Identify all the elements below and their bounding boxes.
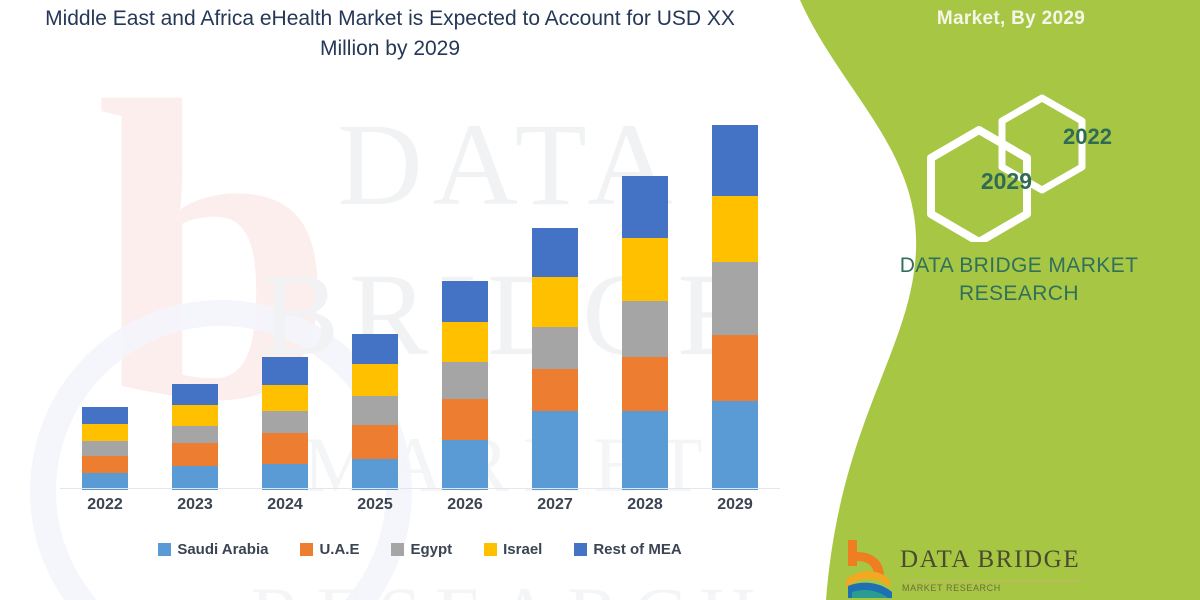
bar-2022 bbox=[82, 407, 128, 490]
bar-segment-saudi-arabia bbox=[352, 459, 398, 491]
page-title: Middle East and Africa eHealth Market is… bbox=[40, 4, 740, 64]
bar-segment-u-a-e bbox=[622, 357, 668, 412]
bar-2023 bbox=[172, 384, 218, 490]
bar-segment-israel bbox=[532, 277, 578, 327]
bar-segment-u-a-e bbox=[352, 425, 398, 459]
legend-item-egypt[interactable]: Egypt bbox=[391, 541, 452, 558]
bar-segment-u-a-e bbox=[262, 433, 308, 463]
bar-segment-rest-of-mea bbox=[712, 125, 758, 196]
bar-segment-egypt bbox=[712, 262, 758, 334]
x-axis-label-2024: 2024 bbox=[240, 496, 330, 514]
bar-segment-u-a-e bbox=[532, 369, 578, 411]
legend-label: Rest of MEA bbox=[593, 541, 681, 558]
x-axis-labels: 20222023202420252026202720282029 bbox=[60, 496, 780, 526]
bar-segment-rest-of-mea bbox=[352, 334, 398, 364]
bar-segment-egypt bbox=[172, 426, 218, 443]
right-panel-title: Market, By 2029 bbox=[846, 8, 1176, 30]
bar-segment-rest-of-mea bbox=[82, 407, 128, 424]
logo-tagline: MARKET RESEARCH bbox=[902, 583, 1001, 593]
bar-2024 bbox=[262, 357, 308, 490]
bar-2028 bbox=[622, 176, 668, 490]
bar-segment-israel bbox=[442, 322, 488, 362]
bar-segment-egypt bbox=[262, 411, 308, 433]
stacked-bar-chart bbox=[60, 110, 780, 490]
logo-bridge-icon bbox=[838, 536, 900, 598]
legend-label: Saudi Arabia bbox=[177, 541, 268, 558]
bar-segment-rest-of-mea bbox=[442, 281, 488, 322]
x-axis-label-2023: 2023 bbox=[150, 496, 240, 514]
company-logo: DATA BRIDGE MARKET RESEARCH bbox=[838, 536, 1088, 600]
bar-segment-egypt bbox=[352, 396, 398, 425]
x-axis-label-2026: 2026 bbox=[420, 496, 510, 514]
legend-swatch-icon bbox=[158, 543, 171, 556]
bar-segment-israel bbox=[712, 196, 758, 262]
bar-segment-rest-of-mea bbox=[622, 176, 668, 238]
bar-segment-israel bbox=[622, 238, 668, 301]
bar-segment-israel bbox=[262, 385, 308, 411]
bar-segment-rest-of-mea bbox=[172, 384, 218, 405]
bar-segment-israel bbox=[352, 364, 398, 396]
bar-segment-egypt bbox=[622, 301, 668, 357]
bar-segment-israel bbox=[82, 424, 128, 441]
legend-item-saudi-arabia[interactable]: Saudi Arabia bbox=[158, 541, 268, 558]
brand-line-2: RESEARCH bbox=[854, 280, 1184, 308]
bar-segment-rest-of-mea bbox=[532, 228, 578, 277]
legend-item-rest-of-mea[interactable]: Rest of MEA bbox=[574, 541, 681, 558]
x-axis-label-2025: 2025 bbox=[330, 496, 420, 514]
legend-item-u-a-e[interactable]: U.A.E bbox=[300, 541, 359, 558]
chart-legend: Saudi ArabiaU.A.EEgyptIsraelRest of MEA bbox=[60, 536, 780, 562]
bar-segment-u-a-e bbox=[442, 399, 488, 440]
bar-segment-saudi-arabia bbox=[442, 440, 488, 490]
x-axis-label-2027: 2027 bbox=[510, 496, 600, 514]
bar-segment-saudi-arabia bbox=[712, 401, 758, 490]
logo-wordmark: DATA BRIDGE bbox=[900, 546, 1080, 574]
brand-name: DATA BRIDGE MARKET RESEARCH bbox=[854, 252, 1184, 308]
brand-line-1: DATA BRIDGE MARKET bbox=[854, 252, 1184, 280]
bar-segment-u-a-e bbox=[712, 335, 758, 401]
bar-segment-saudi-arabia bbox=[172, 466, 218, 490]
bar-2026 bbox=[442, 281, 488, 490]
x-axis-line bbox=[60, 488, 780, 489]
bar-segment-saudi-arabia bbox=[262, 464, 308, 490]
legend-swatch-icon bbox=[391, 543, 404, 556]
legend-swatch-icon bbox=[300, 543, 313, 556]
bar-segment-saudi-arabia bbox=[622, 411, 668, 490]
bar-2025 bbox=[352, 334, 398, 490]
legend-label: Israel bbox=[503, 541, 542, 558]
bar-segment-saudi-arabia bbox=[532, 411, 578, 490]
bar-2029 bbox=[712, 125, 758, 490]
hexagon-group bbox=[924, 92, 1114, 232]
x-axis-label-2029: 2029 bbox=[690, 496, 780, 514]
bar-segment-egypt bbox=[532, 327, 578, 369]
logo-divider bbox=[902, 580, 1082, 582]
legend-swatch-icon bbox=[484, 543, 497, 556]
infographic-canvas: b DATA BRIDGE MARKET RESEARCH Market, By… bbox=[0, 0, 1200, 600]
bar-segment-rest-of-mea bbox=[262, 357, 308, 385]
legend-swatch-icon bbox=[574, 543, 587, 556]
x-axis-label-2022: 2022 bbox=[60, 496, 150, 514]
bar-segment-u-a-e bbox=[172, 443, 218, 466]
bar-segment-egypt bbox=[82, 441, 128, 457]
bar-segment-israel bbox=[172, 405, 218, 426]
x-axis-label-2028: 2028 bbox=[600, 496, 690, 514]
hexagon-2029-label: 2029 bbox=[981, 168, 1032, 195]
hexagon-2022-label: 2022 bbox=[1063, 124, 1112, 150]
bar-segment-egypt bbox=[442, 362, 488, 399]
legend-item-israel[interactable]: Israel bbox=[484, 541, 542, 558]
legend-label: Egypt bbox=[410, 541, 452, 558]
bar-2027 bbox=[532, 228, 578, 490]
bar-segment-u-a-e bbox=[82, 456, 128, 473]
legend-label: U.A.E bbox=[319, 541, 359, 558]
